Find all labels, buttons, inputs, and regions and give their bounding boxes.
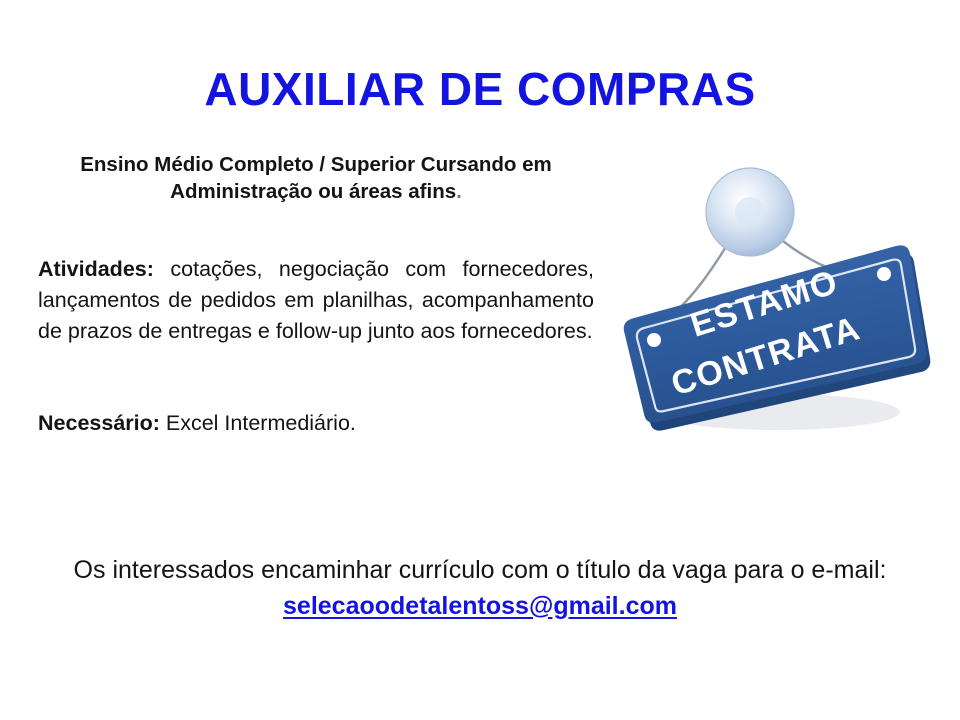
necessary-text: Excel Intermediário. xyxy=(160,411,356,435)
education-period: . xyxy=(456,180,462,203)
necessary-paragraph: Necessário: Excel Intermediário. xyxy=(38,408,638,438)
activities-label: Atividades: xyxy=(38,257,154,281)
sign-eyelet-left xyxy=(647,333,661,347)
activities-paragraph: Atividades: cotações, negociação com for… xyxy=(38,254,594,347)
education-line-2: Administração ou áreas afins xyxy=(170,180,456,203)
requirements-education: Ensino Médio Completo / Superior Cursand… xyxy=(38,152,594,205)
cta-text: Os interessados encaminhar currículo com… xyxy=(74,556,887,584)
education-line-1: Ensino Médio Completo / Superior Cursand… xyxy=(80,153,552,176)
hiring-sign-illustration: ESTAMOS CONTRATANDO xyxy=(600,150,940,450)
sign-eyelet-right xyxy=(877,267,891,281)
necessary-label: Necessário: xyxy=(38,411,160,435)
email-link[interactable]: selecaoodetalentoss@gmail.com xyxy=(283,592,677,620)
call-to-action: Os interessados encaminhar currículo com… xyxy=(30,553,930,624)
wall-disc xyxy=(706,168,794,256)
page-title: AUXILIAR DE COMPRAS xyxy=(0,62,960,116)
